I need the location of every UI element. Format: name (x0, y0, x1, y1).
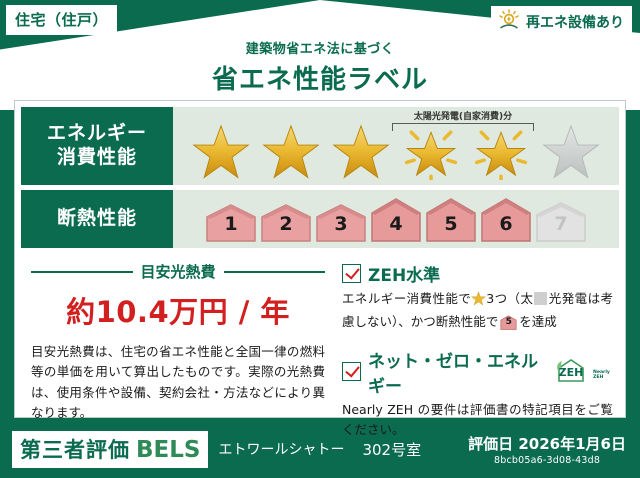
label-card: エネルギー 消費性能 太陽光発電(自家消費)分 (14, 100, 626, 418)
net-zero-header: ネット・ゼロ・エネルギー ZEH Nearly ZEH (342, 347, 613, 397)
insulation-level-number: 1 (224, 213, 237, 241)
star-cell (257, 121, 325, 183)
insulation-label-text: 断熱性能 (57, 207, 137, 231)
title-main: 省エネ性能ラベル (0, 59, 640, 96)
zeh-standard-block: ZEH水準 エネルギー消費性能で 3つ（太光発電は考慮しない）、かつ断熱性能で … (342, 261, 613, 333)
bels-en-label: BELS (136, 437, 200, 463)
standards-column: ZEH水準 エネルギー消費性能で 3つ（太光発電は考慮しない）、かつ断熱性能で … (335, 253, 625, 417)
inline-insulation-level: 5 (500, 315, 517, 330)
star-cell-solar (467, 121, 535, 183)
inline-star-icon (471, 291, 486, 312)
net-zero-title: ネット・ゼロ・エネルギー (368, 347, 544, 397)
evaluation-id: 8bcb05a6-3d08-43d8 (468, 455, 626, 466)
zeh-desc-part2: 3つ（太 (486, 291, 533, 306)
cost-heading-text: 目安光熱費 (141, 261, 216, 282)
energy-label-line2: 消費性能 (57, 146, 137, 170)
energy-stars-area: 太陽光発電(自家消費)分 (173, 107, 619, 185)
energy-performance-label: エネルギー 消費性能 (21, 107, 173, 185)
room-number: 302号室 (362, 439, 421, 460)
star-cell (327, 121, 395, 183)
insulation-levels-area: 1 2 3 (173, 190, 619, 248)
energy-performance-row: エネルギー 消費性能 太陽光発電(自家消費)分 (21, 107, 619, 185)
insulation-level-4: 4 (370, 197, 422, 241)
star-cell (537, 121, 605, 183)
inline-insulation-badge: 5 (500, 315, 517, 330)
zeh-logo-icon: ZEH Nearly ZEH (555, 357, 613, 387)
insulation-level-5: 5 (425, 197, 477, 241)
star-filled-solar-icon (472, 124, 530, 180)
insulation-level-number: 4 (389, 213, 402, 241)
heading-rule-right (224, 271, 326, 273)
insulation-level-number: 6 (499, 213, 512, 241)
insulation-level-number: 5 (444, 213, 457, 241)
insulation-level-3: 3 (315, 203, 367, 241)
star-filled-icon (262, 124, 320, 180)
insulation-level-1: 1 (205, 203, 257, 241)
star-filled-solar-icon (402, 124, 460, 180)
zeh-desc-part1: エネルギー消費性能で (342, 291, 471, 306)
title-subtitle: 建築物省エネ法に基づく (0, 38, 640, 57)
cost-heading: 目安光熱費 (31, 261, 325, 282)
cost-note-text: 目安光熱費は、住宅の省エネ性能と全国一律の燃料等の単価を用いて算出したものです。… (31, 342, 325, 423)
insulation-performance-label: 断熱性能 (21, 190, 173, 248)
star-cell (187, 121, 255, 183)
energy-label-line1: エネルギー (47, 122, 147, 146)
estimated-cost-value: 約10.4万円 / 年 (31, 289, 325, 331)
insulation-level-number: 3 (334, 213, 347, 241)
star-cell-solar (397, 121, 465, 183)
building-name: エトワールシャトー (218, 439, 344, 459)
insulation-level-number: 2 (279, 213, 292, 241)
evaluation-info: 評価日 2026年1月6日 8bcb05a6-3d08-43d8 (468, 433, 626, 466)
renewable-badge-label: 再エネ設備あり (526, 12, 624, 32)
zeh-standard-title: ZEH水準 (368, 261, 440, 286)
insulation-level-scale: 1 2 3 (173, 190, 619, 248)
insulation-performance-row: 断熱性能 1 (21, 190, 619, 248)
checkmark-icon (342, 264, 361, 283)
svg-text:ZEH: ZEH (593, 374, 603, 380)
renewable-equipment-badge: 再エネ設備あり (491, 6, 632, 38)
svg-text:ZEH: ZEH (559, 366, 584, 379)
star-rating (173, 107, 619, 185)
cost-column: 目安光熱費 約10.4万円 / 年 目安光熱費は、住宅の省エネ性能と全国一律の燃… (15, 253, 335, 417)
star-filled-icon (192, 124, 250, 180)
lower-content: 目安光熱費 約10.4万円 / 年 目安光熱費は、住宅の省エネ性能と全国一律の燃… (15, 253, 625, 417)
star-empty-icon (542, 124, 600, 180)
housing-type-tag: 住宅（住戸） (6, 5, 117, 35)
zeh-standard-header: ZEH水準 (342, 261, 613, 286)
insulation-level-2: 2 (260, 203, 312, 241)
sun-icon (497, 9, 521, 35)
insulation-level-7: 7 (535, 201, 587, 241)
redacted-block (534, 292, 547, 305)
zeh-standard-description: エネルギー消費性能で 3つ（太光発電は考慮しない）、かつ断熱性能で 5を達成 (342, 289, 613, 333)
insulation-level-6: 6 (480, 197, 532, 241)
title-block: 建築物省エネ法に基づく 省エネ性能ラベル (0, 38, 640, 96)
footer-bar: 第三者評価 BELS エトワールシャトー 302号室 評価日 2026年1月6日… (0, 420, 640, 478)
star-filled-icon (332, 124, 390, 180)
evaluation-date: 評価日 2026年1月6日 (468, 433, 626, 454)
zeh-desc-part4: を達成 (519, 314, 557, 329)
bels-badge: 第三者評価 BELS (12, 431, 208, 468)
energy-label-root: 住宅（住戸） 再エネ設備あり 建築物省エネ法に基づく 省エネ性能ラベル (0, 0, 640, 478)
insulation-level-number: 7 (554, 213, 567, 241)
heading-rule-left (31, 271, 133, 273)
bels-jp-label: 第三者評価 (20, 434, 130, 464)
checkmark-icon (342, 362, 361, 381)
